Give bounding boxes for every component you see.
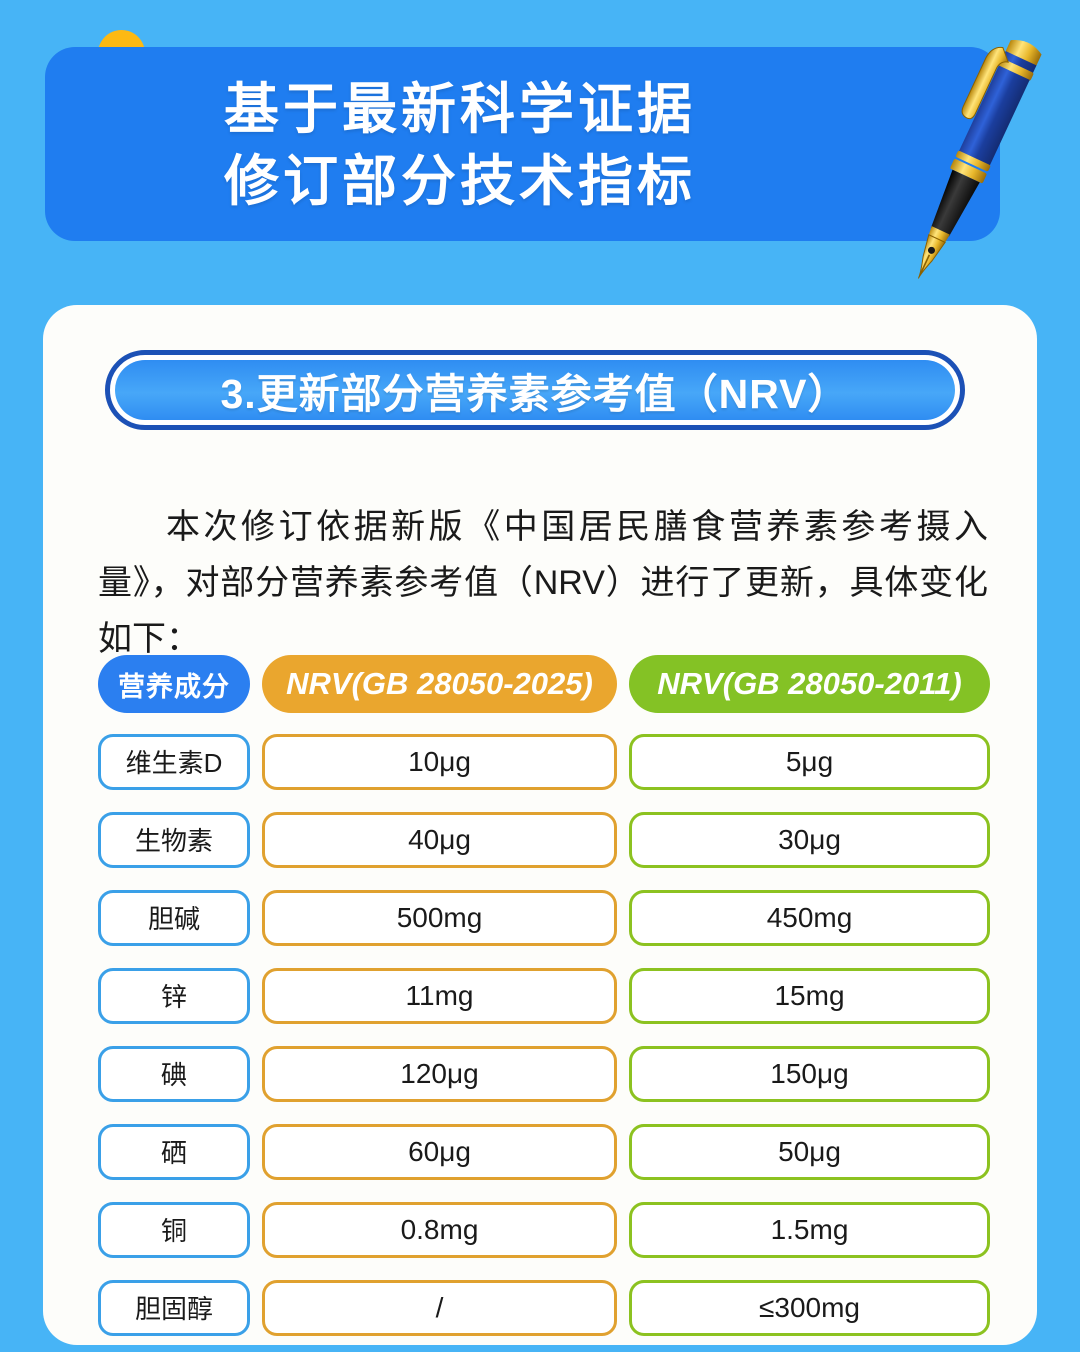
header-banner: 基于最新科学证据 修订部分技术指标 — [45, 47, 1000, 241]
table-row: 维生素D 10μg 5μg — [98, 728, 988, 795]
cell-nutrient-name: 胆固醇 — [98, 1280, 250, 1336]
cell-nutrient-name: 生物素 — [98, 812, 250, 868]
nrv-comparison-table: 营养成分 NRV(GB 28050-2025) NRV(GB 28050-201… — [98, 653, 988, 1352]
table-row: 胆固醇 / ≤300mg — [98, 1274, 988, 1341]
cell-nrv-2011: 1.5mg — [629, 1202, 990, 1258]
cell-nrv-2025: 120μg — [262, 1046, 617, 1102]
cell-nrv-2025: 60μg — [262, 1124, 617, 1180]
table-row: 碘 120μg 150μg — [98, 1040, 988, 1107]
section-badge-inner: 3.更新部分营养素参考值（NRV） — [115, 360, 955, 420]
cell-nutrient-name: 硒 — [98, 1124, 250, 1180]
cell-nrv-2025: 500mg — [262, 890, 617, 946]
cell-nutrient-name: 碘 — [98, 1046, 250, 1102]
cell-nrv-2025: 0.8mg — [262, 1202, 617, 1258]
cell-nrv-2011: 150μg — [629, 1046, 990, 1102]
banner-title-line-2: 修订部分技术指标 — [45, 145, 875, 217]
cell-nrv-2025: 11mg — [262, 968, 617, 1024]
cell-nutrient-name: 锌 — [98, 968, 250, 1024]
table-row: 硒 60μg 50μg — [98, 1118, 988, 1185]
fountain-pen-icon — [880, 22, 1070, 292]
section-badge-title: 3.更新部分营养素参考值（NRV） — [220, 360, 849, 420]
cell-nrv-2011: 50μg — [629, 1124, 990, 1180]
cell-nrv-2011: 30μg — [629, 812, 990, 868]
table-header-nrv-2011: NRV(GB 28050-2011) — [629, 655, 990, 713]
banner-title: 基于最新科学证据 修订部分技术指标 — [45, 73, 875, 217]
table-row: 生物素 40μg 30μg — [98, 806, 988, 873]
banner-title-line-1: 基于最新科学证据 — [45, 73, 875, 145]
table-row: 胆碱 500mg 450mg — [98, 884, 988, 951]
table-row: 锌 11mg 15mg — [98, 962, 988, 1029]
cell-nutrient-name: 维生素D — [98, 734, 250, 790]
cell-nrv-2025: 10μg — [262, 734, 617, 790]
cell-nutrient-name: 胆碱 — [98, 890, 250, 946]
table-header-row: 营养成分 NRV(GB 28050-2025) NRV(GB 28050-201… — [98, 653, 988, 715]
cell-nrv-2011: ≤300mg — [629, 1280, 990, 1336]
table-row: 铜 0.8mg 1.5mg — [98, 1196, 988, 1263]
content-card: 3.更新部分营养素参考值（NRV） 本次修订依据新版《中国居民膳食营养素参考摄入… — [43, 305, 1037, 1345]
section-badge: 3.更新部分营养素参考值（NRV） — [105, 350, 965, 430]
table-header-nutrient: 营养成分 — [98, 655, 250, 713]
section-paragraph: 本次修订依据新版《中国居民膳食营养素参考摄入量》，对部分营养素参考值（NRV）进… — [98, 499, 988, 667]
cell-nrv-2025: / — [262, 1280, 617, 1336]
cell-nrv-2011: 5μg — [629, 734, 990, 790]
cell-nrv-2011: 15mg — [629, 968, 990, 1024]
cell-nrv-2011: 450mg — [629, 890, 990, 946]
cell-nutrient-name: 铜 — [98, 1202, 250, 1258]
table-header-nrv-2025: NRV(GB 28050-2025) — [262, 655, 617, 713]
cell-nrv-2025: 40μg — [262, 812, 617, 868]
